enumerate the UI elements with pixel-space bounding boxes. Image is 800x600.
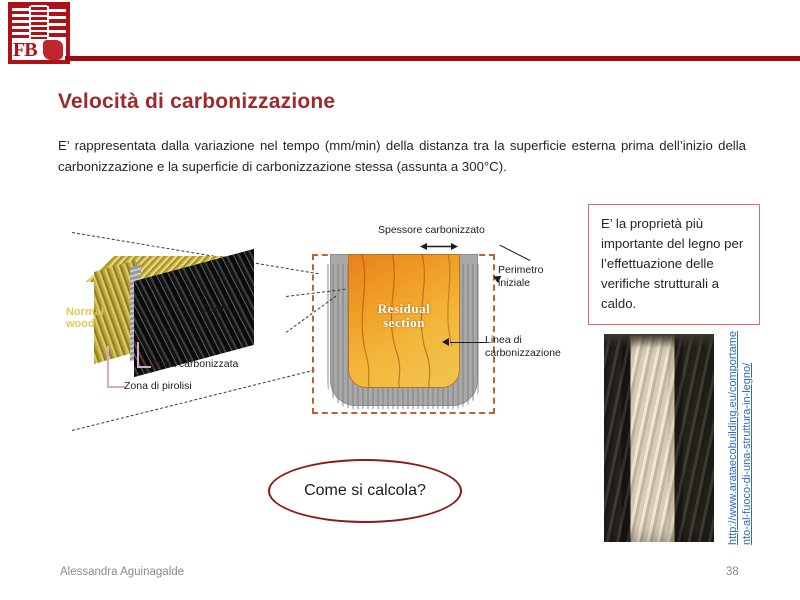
header-divider-rule xyxy=(65,56,800,61)
leader-line-perimetro xyxy=(499,245,530,261)
label-perimetro-iniziale: Perimetroiniziale xyxy=(498,264,544,290)
seal-glyphs-icon xyxy=(12,5,66,39)
double-arrow-icon xyxy=(420,242,458,251)
arrowhead-carbonizzazione-icon xyxy=(442,338,449,346)
figure-cross-section: Spessore carbonizzato Residualsection Pe… xyxy=(300,222,590,432)
label-zona-carbonizzata: Zona carbonizzata xyxy=(152,358,238,370)
source-url-link[interactable]: http://www.arataecobuilding.eu/comportam… xyxy=(726,330,796,545)
label-normal-wood: Normalwood xyxy=(66,306,104,330)
question-text: Come si calcola? xyxy=(304,482,426,500)
footer-author: Alessandra Aguinagalde xyxy=(60,566,184,578)
intro-paragraph: E’ rappresentata dalla variazione nel te… xyxy=(58,135,746,177)
bracket-carbonizzata xyxy=(137,342,151,368)
label-linea-carbonizzazione: Linea dicarbonizzazione xyxy=(485,334,561,360)
leader-line-carbonizzazione xyxy=(450,342,486,343)
brand-logo: FB xyxy=(8,2,70,64)
callout-box: E’ la proprietà più importante del legno… xyxy=(588,204,760,325)
charred-wood-photo xyxy=(604,334,714,542)
figure-wood-block: Normalwood Zona carbonizzata Zona di pir… xyxy=(52,218,287,443)
label-zoom: Zoom xyxy=(202,303,230,315)
footer-page-number: 38 xyxy=(726,566,739,578)
seal-dot-icon xyxy=(43,40,63,60)
question-callout-ellipse: Come si calcola? xyxy=(268,459,462,523)
source-url-text[interactable]: http://www.arataecobuilding.eu/comportam… xyxy=(726,330,754,545)
page-title: Velocità di carbonizzazione xyxy=(58,90,335,114)
label-residual-section: Residualsection xyxy=(348,302,460,330)
seal-letters: FB xyxy=(13,40,37,60)
label-spessore-carbonizzato: Spessore carbonizzato xyxy=(378,224,485,237)
bracket-pirolisi xyxy=(107,346,125,388)
label-zona-pirolisi: Zona di pirolisi xyxy=(124,380,192,392)
